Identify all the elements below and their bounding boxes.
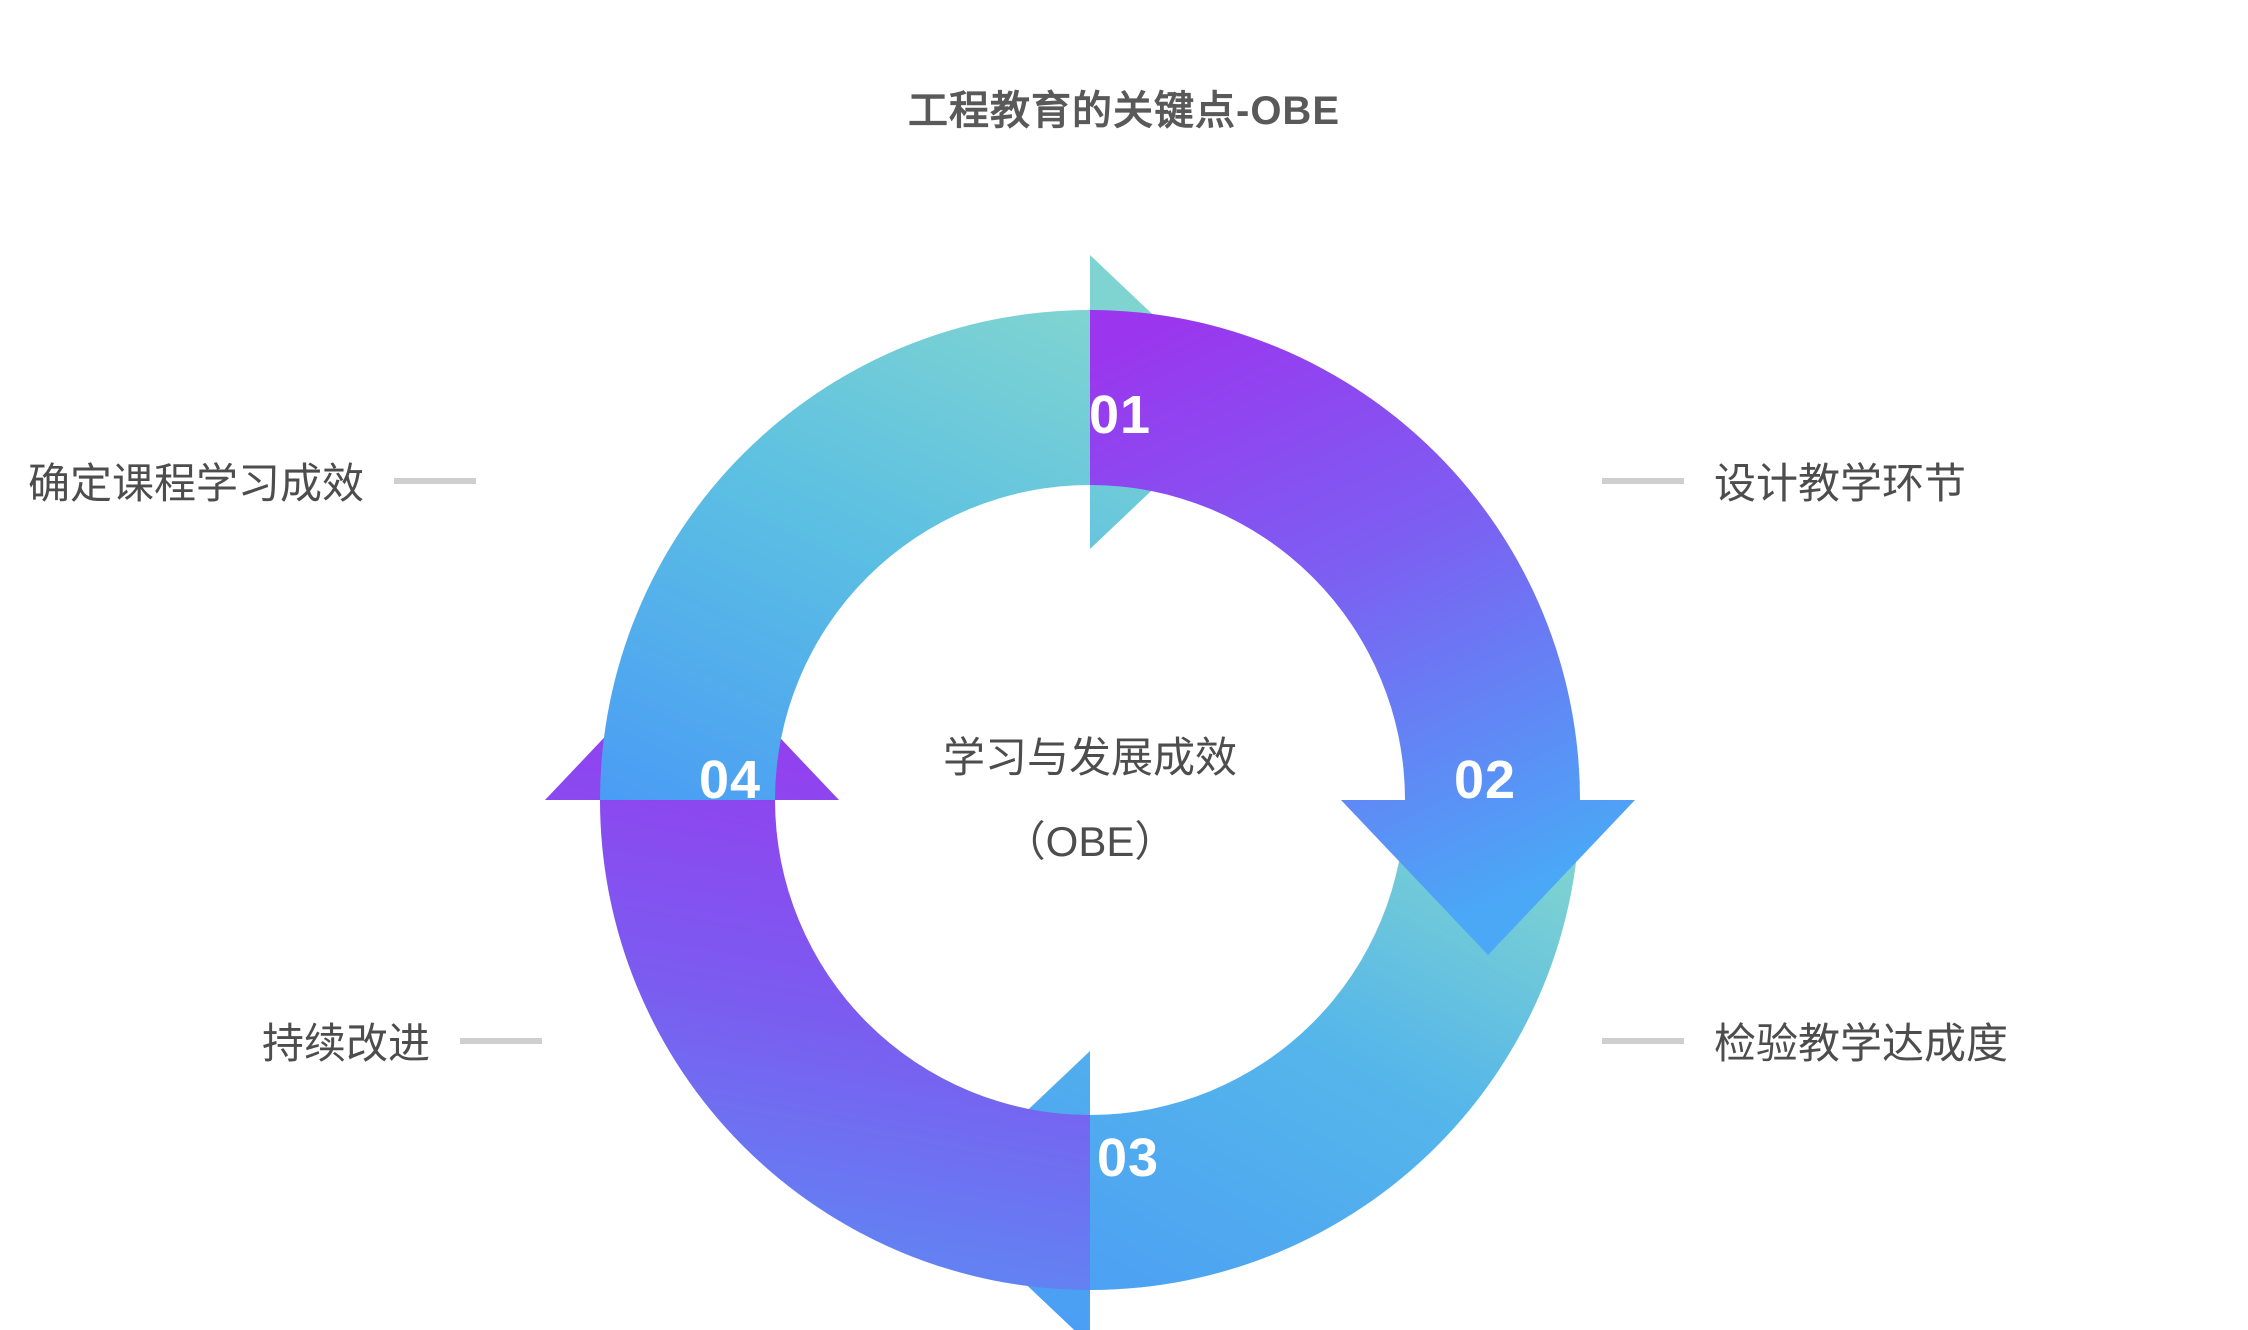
segment-number-04: 04 — [699, 749, 761, 811]
label-01-text: 确定课程学习成效 — [28, 450, 364, 511]
segment-number-01: 01 — [1089, 384, 1151, 446]
center-label-line2: （OBE） — [943, 821, 1237, 863]
segment-number-03: 03 — [1097, 1127, 1159, 1189]
label-01[interactable]: 确定课程学习成效 — [28, 450, 476, 511]
label-04-text: 持续改进 — [262, 1010, 430, 1071]
label-04[interactable]: 持续改进 — [262, 1010, 542, 1071]
center-label-line1: 学习与发展成效 — [943, 737, 1237, 779]
connector-line-02-icon — [1602, 478, 1684, 484]
connector-line-01-icon — [394, 478, 476, 484]
label-03[interactable]: 检验教学达成度 — [1602, 1010, 2008, 1071]
label-02[interactable]: 设计教学环节 — [1602, 450, 1966, 511]
label-03-text: 检验教学达成度 — [1714, 1010, 2008, 1071]
center-label: 学习与发展成效 （OBE） — [943, 737, 1237, 863]
diagram-canvas: 工程教育的关键点-OBE — [0, 0, 2248, 1330]
segment-number-02: 02 — [1454, 749, 1516, 811]
label-02-text: 设计教学环节 — [1714, 450, 1966, 511]
connector-line-04-icon — [460, 1038, 542, 1044]
connector-line-03-icon — [1602, 1038, 1684, 1044]
